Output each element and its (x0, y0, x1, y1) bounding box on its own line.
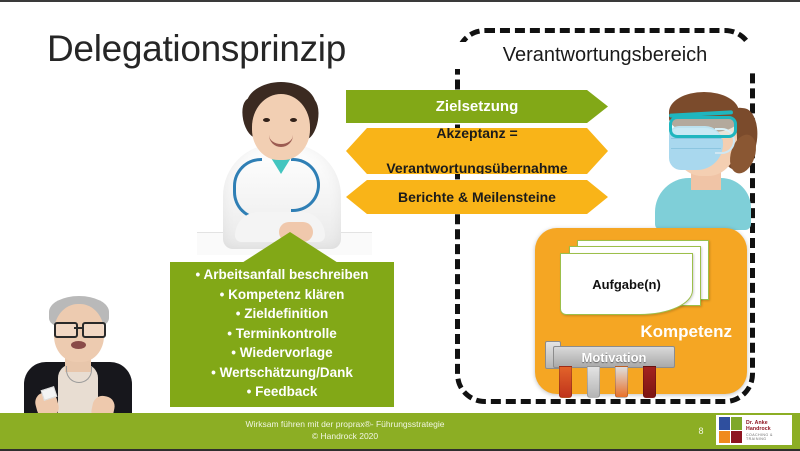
task-sheet-front: Aufgabe(n) (560, 253, 693, 315)
motivation-bar: Motivation (553, 346, 675, 368)
glasses-bridge (74, 327, 84, 329)
logo-square-blue (719, 417, 730, 430)
doctor-photo (205, 72, 357, 247)
logo-square-green (731, 417, 742, 430)
presenter-mouth (71, 341, 86, 349)
footer-credit: Wirksam führen mit der proprax®- Führung… (0, 418, 690, 442)
responsibility-area-label: Verantwortungsbereich (455, 42, 755, 69)
safety-goggles-icon (669, 116, 737, 138)
footer-line-1: Wirksam führen mit der proprax®- Führung… (0, 418, 690, 430)
logo-squares-icon (719, 417, 742, 443)
logo-square-orange (719, 431, 730, 444)
list-item: • Terminkontrolle (170, 324, 394, 344)
logo-text-block: Dr. Anke Handrock COACHING & TRAINING (746, 420, 789, 441)
brand-logo: Dr. Anke Handrock COACHING & TRAINING (716, 415, 792, 445)
list-item: • Feedback (170, 382, 394, 402)
mask-pleat-1 (671, 138, 721, 139)
banner-zielsetzung-label: Zielsetzung (346, 98, 608, 115)
banner-akzeptanz: Akzeptanz = Verantwortungsübernahme (346, 128, 608, 174)
list-item: • Wiedervorlage (170, 343, 394, 363)
competence-label: Kompetenz (535, 322, 732, 342)
footer-line-2: © Handrock 2020 (0, 430, 690, 442)
mask-pleat-2 (671, 148, 721, 149)
page-number: 8 (690, 426, 712, 436)
list-item: • Kompetenz klären (170, 285, 394, 305)
logo-name: Dr. Anke Handrock (746, 420, 789, 432)
motivation-leg-2 (587, 366, 600, 398)
doctor-eye-left (263, 118, 270, 122)
competence-card: Aufgabe(n) Kompetenz Motivation (535, 228, 747, 394)
slide-canvas: Delegationsprinzip Verantwortungsbereich (0, 0, 800, 451)
banner-akzeptanz-label: Akzeptanz = Verantwortungsübernahme (346, 125, 608, 178)
doctor-eye-right (290, 118, 297, 122)
logo-tagline: COACHING & TRAINING (746, 433, 789, 441)
logo-square-red (731, 431, 742, 444)
list-item: • Arbeitsanfall beschreiben (170, 265, 394, 285)
banner-berichte: Berichte & Meilensteine (346, 180, 608, 214)
motivation-leg-3 (615, 366, 628, 398)
motivation-leg-1 (559, 366, 572, 398)
delegation-checklist: • Arbeitsanfall beschreiben • Kompetenz … (170, 262, 394, 407)
list-item: • Wertschätzung/Dank (170, 363, 394, 383)
motivation-leg-4 (643, 366, 656, 398)
page-title: Delegationsprinzip (47, 30, 346, 69)
list-item: • Zieldefinition (170, 304, 394, 324)
top-border (0, 0, 800, 2)
banner-zielsetzung: Zielsetzung (346, 90, 608, 123)
doctor-face (252, 94, 310, 160)
task-label: Aufgabe(n) (561, 277, 692, 292)
motivation-label: Motivation (554, 350, 674, 365)
nurse-photo (645, 78, 765, 228)
glasses-left-lens-icon (54, 322, 78, 338)
glasses-right-lens-icon (82, 322, 106, 338)
banner-berichte-label: Berichte & Meilensteine (346, 189, 608, 205)
